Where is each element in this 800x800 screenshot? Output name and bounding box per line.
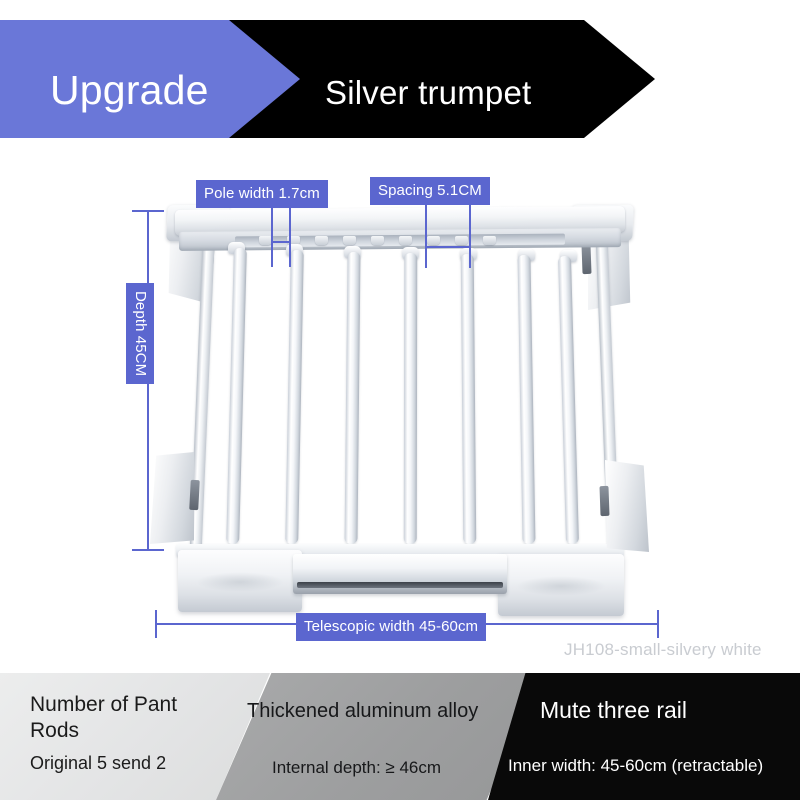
feature-panel-mute-three-rail — [488, 673, 800, 800]
pant-rod — [461, 254, 477, 544]
rail-tooth — [427, 236, 440, 245]
spacing-tick-right — [469, 200, 471, 268]
mount-plate-bottom-left — [150, 452, 194, 544]
rail-tooth — [399, 236, 412, 245]
spacing-span — [425, 246, 471, 248]
hinge-bottom-right — [599, 486, 609, 516]
annotation-telescopic-width: Telescopic width 45-60cm — [296, 613, 486, 641]
rail-tooth — [455, 236, 468, 245]
product-infographic: Upgrade Silver trumpet — [0, 0, 800, 800]
mount-plate-bottom-right — [605, 460, 649, 552]
base-end-left — [178, 550, 302, 612]
banner-variant-label: Silver trumpet — [325, 76, 531, 109]
annotation-depth: Depth 45CM — [126, 283, 154, 384]
annotation-spacing: Spacing 5.1CM — [370, 177, 490, 205]
feature-title-mute-three-rail: Mute three rail — [540, 697, 687, 724]
pant-rod — [285, 250, 304, 544]
banner-upgrade-label: Upgrade — [50, 70, 209, 111]
product-image-stage — [0, 140, 800, 660]
pant-rod — [404, 253, 418, 544]
annotation-pole-width: Pole width 1.7cm — [196, 180, 328, 208]
hinge-bottom-left — [189, 480, 200, 510]
rail-tooth — [315, 236, 328, 245]
rail-tooth — [371, 236, 384, 245]
base-end-right — [498, 554, 624, 616]
feature-title-pant-rods: Number of Pant Rods — [30, 692, 220, 744]
feature-subtitle-pant-rods: Original 5 send 2 — [30, 753, 166, 774]
feature-subtitle-aluminum-alloy: Internal depth: ≥ 46cm — [272, 758, 441, 778]
spacing-tick-left — [425, 200, 427, 268]
feature-panel-aluminum-alloy — [216, 673, 542, 800]
model-number-label: JH108-small-silvery white — [564, 640, 762, 660]
pant-rod — [558, 256, 579, 544]
pole-width-tick-left — [271, 205, 273, 267]
pole-width-tick-right — [289, 205, 291, 267]
telescopic-center-rail — [293, 554, 507, 594]
feature-title-aluminum-alloy: Thickened aluminum alloy — [247, 700, 478, 723]
depth-tick-bottom — [132, 549, 164, 551]
width-tick-right — [657, 610, 659, 638]
rail-tooth — [483, 236, 496, 245]
pant-rod — [517, 255, 535, 544]
rail-tooth — [343, 236, 356, 245]
feature-subtitle-mute-three-rail: Inner width: 45-60cm (retractable) — [508, 756, 763, 776]
telescopic-rail-shadow — [297, 582, 503, 588]
header-banner: Upgrade Silver trumpet — [0, 20, 800, 138]
pole-width-span — [271, 241, 291, 243]
pant-rod — [344, 252, 360, 544]
pant-rod — [226, 248, 247, 544]
